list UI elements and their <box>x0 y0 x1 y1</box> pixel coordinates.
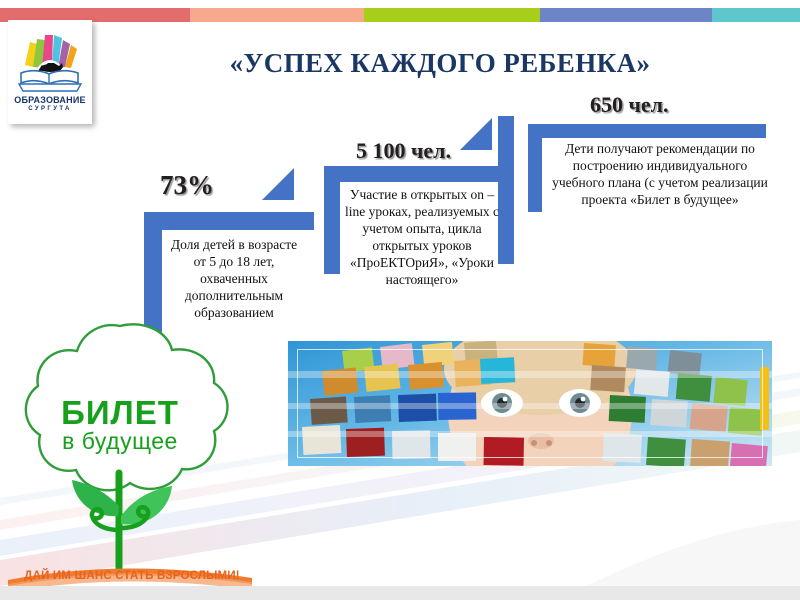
topbar-segment-teal <box>712 8 800 22</box>
callout-1-arrow-icon <box>262 168 294 200</box>
topbar-segment-blue <box>540 8 712 22</box>
bilet-subtitle: в будущее <box>4 428 236 455</box>
topbar-segment-salmon <box>190 8 364 22</box>
surgut-education-logo: ОБРАЗОВАНИЕ СУРГУТА <box>8 20 92 124</box>
callout-2-top-bar <box>324 166 514 182</box>
topbar-segment-green <box>364 8 540 22</box>
callout-3-top-bar <box>528 124 766 138</box>
callout-2-left-bar <box>324 166 340 274</box>
photo-child-collage <box>288 341 772 466</box>
bottom-strip <box>0 586 800 600</box>
bilet-tagline: ДАЙ ИМ ШАНС СТАТЬ ВЗРОСЛЫМИ! <box>10 570 254 582</box>
callout-2-text: Участие в открытых on – line уроках, реа… <box>342 186 502 288</box>
bilet-tree-illustration <box>4 318 260 596</box>
callout-1-text: Доля детей в возрасте от 5 до 18 лет, ох… <box>168 236 300 321</box>
callout-2-arrow-icon <box>460 118 492 150</box>
open-book-with-fox-emblem <box>13 25 87 95</box>
callout-1-number: 73% <box>160 170 214 201</box>
bilet-word: БИЛЕТ <box>4 394 236 432</box>
bilet-v-budushchee-logo: БИЛЕТ в будущее ДАЙ ИМ ШАНС СТАТЬ ВЗРОСЛ… <box>4 318 260 596</box>
callout-3-left-bar <box>528 124 542 212</box>
photo-inner-frame <box>297 349 763 458</box>
callout-3-text: Дети получают рекомендации по построению… <box>546 140 774 208</box>
logo-title-line1: ОБРАЗОВАНИЕ <box>14 95 85 105</box>
callout-3-number: 650 чел. <box>590 92 669 118</box>
page-title: «УСПЕХ КАЖДОГО РЕБЕНКА» <box>120 48 760 79</box>
callout-2-number: 5 100 чел. <box>356 138 451 164</box>
slide-canvas: ОБРАЗОВАНИЕ СУРГУТА «УСПЕХ КАЖДОГО РЕБЕН… <box>0 0 800 600</box>
top-color-bar <box>0 8 800 22</box>
logo-title-line2: СУРГУТА <box>28 105 72 114</box>
callout-1-top-bar <box>144 212 314 230</box>
